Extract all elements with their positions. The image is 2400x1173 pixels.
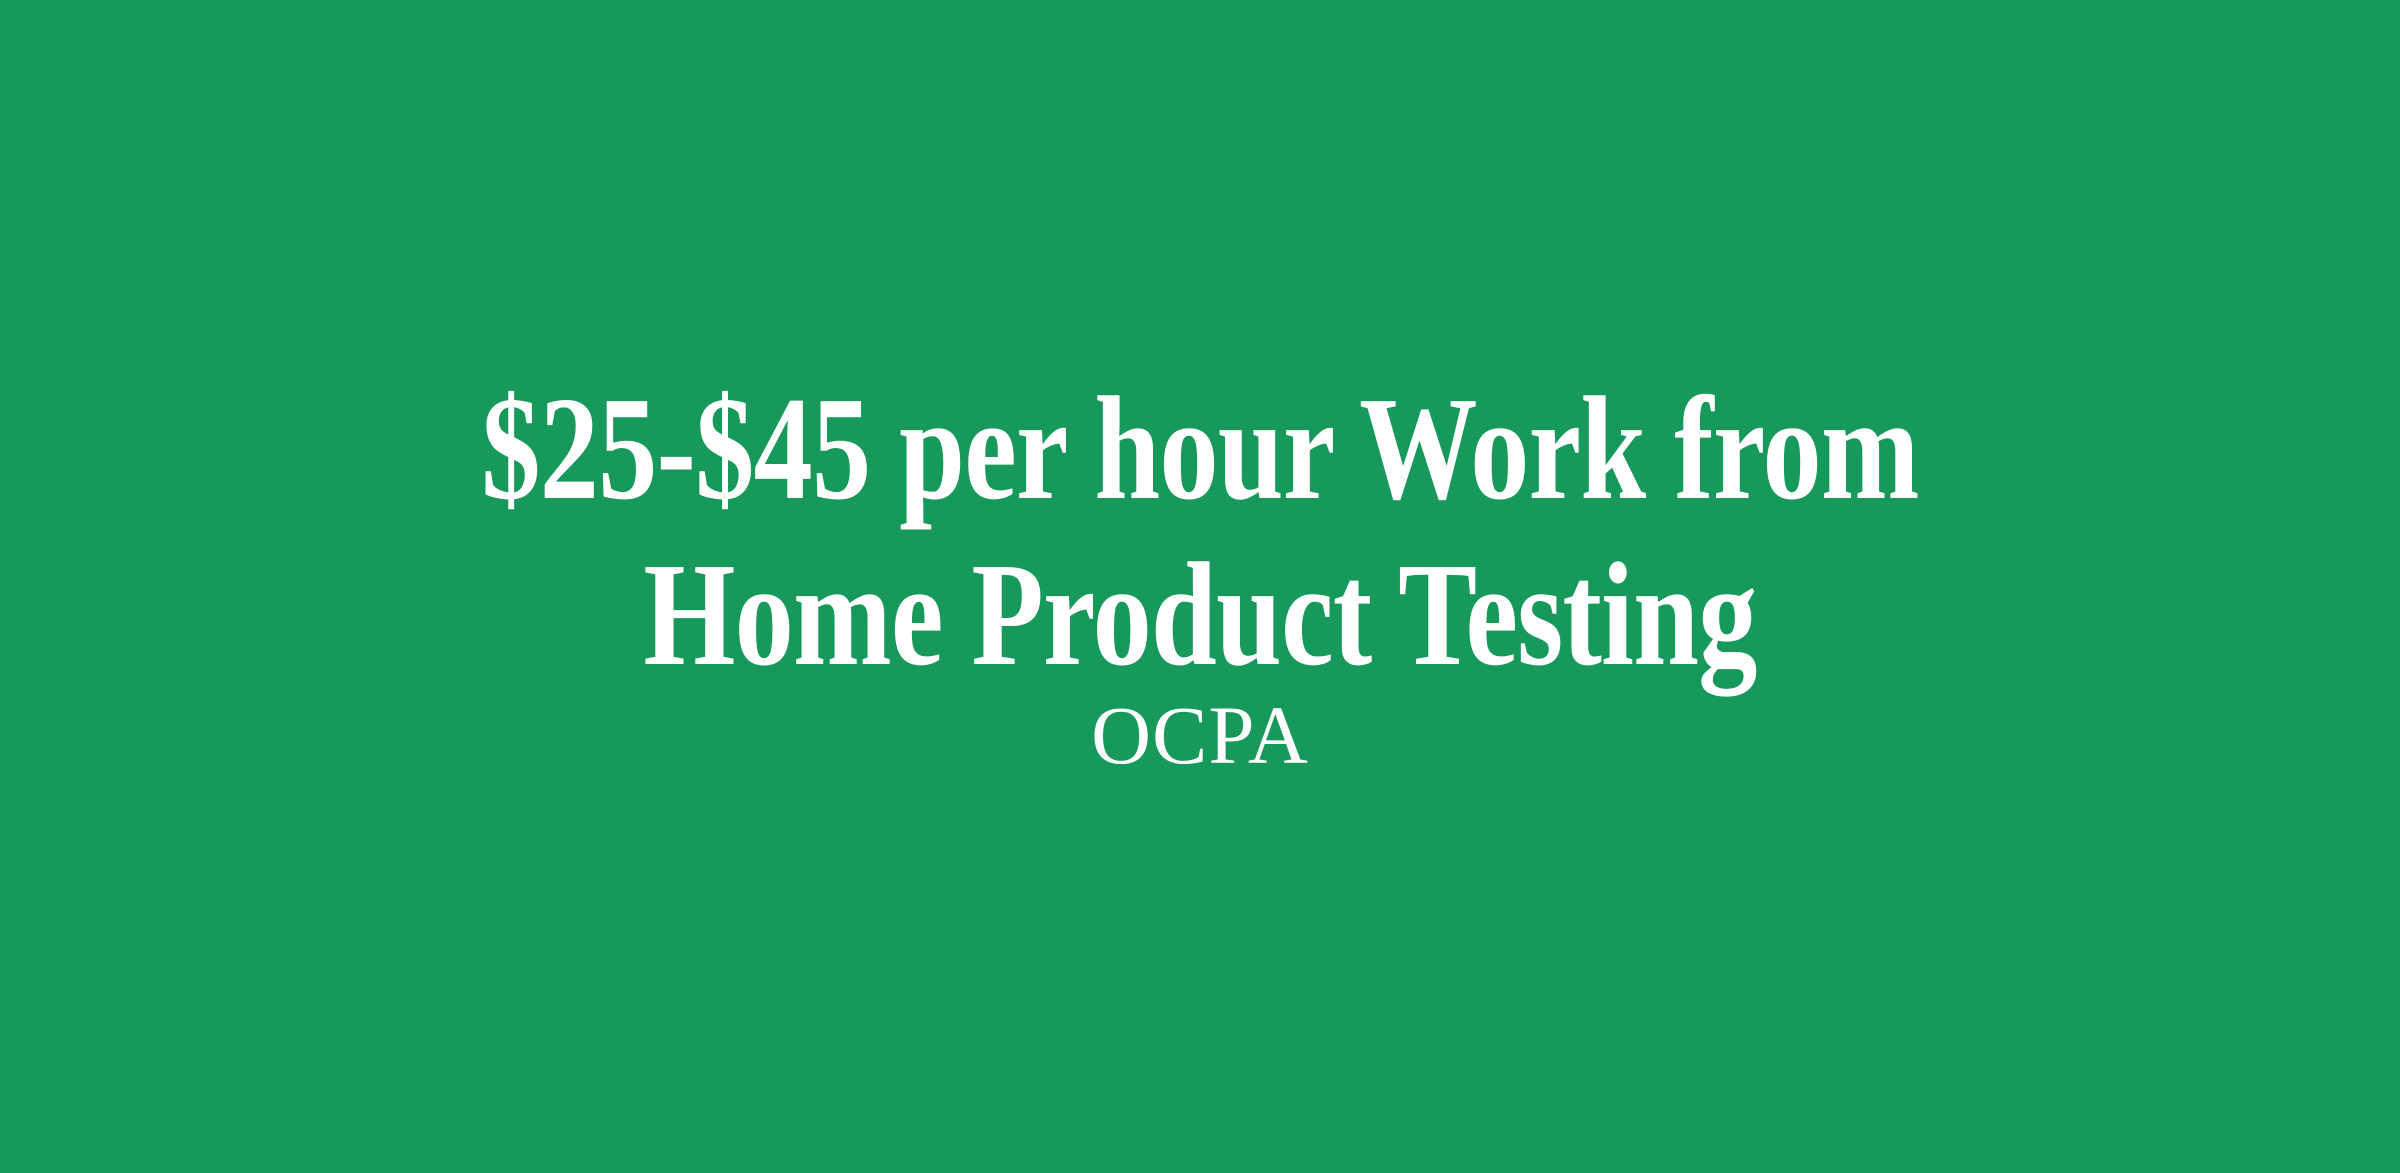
headline-line-2: Home Product Testing xyxy=(240,532,2160,698)
promo-banner: $25-$45 per hour Work from Home Product … xyxy=(0,0,2400,1173)
headline-line-1: $25-$45 per hour Work from xyxy=(240,366,2160,532)
banner-headline: $25-$45 per hour Work from Home Product … xyxy=(0,366,2400,698)
banner-subtitle: OCPA xyxy=(0,692,2400,778)
